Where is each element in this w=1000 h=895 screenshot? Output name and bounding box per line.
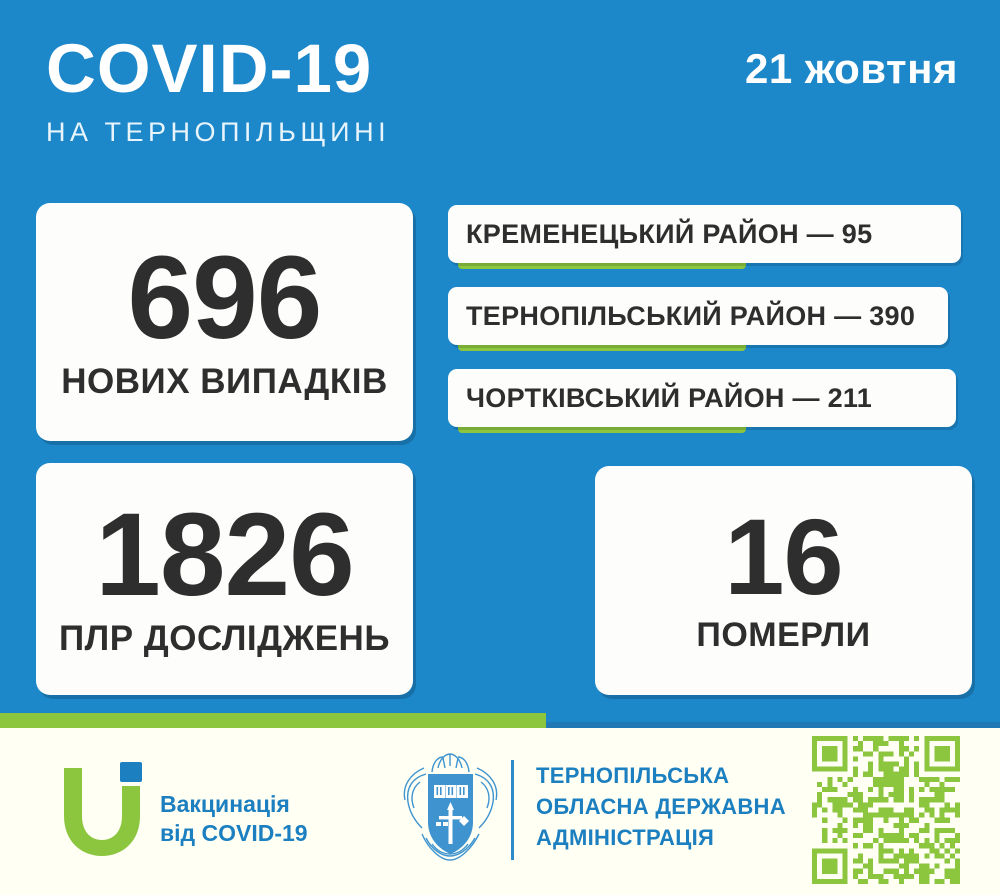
title-block: COVID-19 НА ТЕРНОПІЛЬЩИНІ [46, 34, 390, 146]
admin-vertical-divider [511, 760, 514, 860]
district-card: ТЕРНОПІЛЬСЬКИЙ РАЙОН — 390 [448, 287, 948, 345]
stat-label-pcr-tests: ПЛР ДОСЛІДЖЕНЬ [59, 619, 390, 659]
green-divider-band [0, 713, 546, 728]
district-label: ЧОРТКІВСЬКИЙ РАЙОН — 211 [466, 383, 872, 414]
district-card: ЧОРТКІВСЬКИЙ РАЙОН — 211 [448, 369, 956, 427]
stat-value-new-cases: 696 [128, 242, 322, 354]
covid-infographic-poster: COVID-19 НА ТЕРНОПІЛЬЩИНІ 21 жовтня 696 … [0, 0, 1000, 895]
district-label: КРЕМЕНЕЦЬКИЙ РАЙОН — 95 [466, 219, 872, 250]
vaccination-line-1: Вакцинація [160, 790, 308, 819]
stat-label-new-cases: НОВИХ ВИПАДКІВ [61, 362, 387, 402]
vaccination-text: Вакцинація від COVID-19 [160, 790, 308, 849]
qr-code-icon[interactable] [812, 736, 960, 884]
stat-card-new-cases: 696 НОВИХ ВИПАДКІВ [36, 203, 413, 441]
vaccination-v-logo-icon [58, 760, 154, 860]
poster-header: COVID-19 НА ТЕРНОПІЛЬЩИНІ 21 жовтня [0, 0, 1000, 190]
district-row: КРЕМЕНЕЦЬКИЙ РАЙОН — 95 [448, 205, 968, 265]
district-row: ТЕРНОПІЛЬСЬКИЙ РАЙОН — 390 [448, 287, 968, 347]
stat-label-deaths: ПОМЕРЛИ [696, 616, 870, 655]
district-list: КРЕМЕНЕЦЬКИЙ РАЙОН — 95 ТЕРНОПІЛЬСЬКИЙ Р… [448, 205, 968, 429]
date-label: 21 жовтня [745, 48, 958, 90]
ternopil-oblast-coat-of-arms-icon [398, 752, 503, 870]
page-subtitle: НА ТЕРНОПІЛЬЩИНІ [46, 119, 390, 146]
stat-card-deaths: 16 ПОМЕРЛИ [595, 466, 972, 695]
district-row: ЧОРТКІВСЬКИЙ РАЙОН — 211 [448, 369, 968, 429]
administration-text: ТЕРНОПІЛЬСЬКА ОБЛАСНА ДЕРЖАВНА АДМІНІСТР… [536, 760, 786, 854]
stat-card-pcr-tests: 1826 ПЛР ДОСЛІДЖЕНЬ [36, 463, 413, 695]
administration-line-3: АДМІНІСТРАЦІЯ [536, 822, 786, 853]
stat-value-deaths: 16 [724, 506, 842, 609]
administration-line-2: ОБЛАСНА ДЕРЖАВНА [536, 791, 786, 822]
stat-value-pcr-tests: 1826 [95, 499, 354, 611]
vaccination-line-2: від COVID-19 [160, 819, 308, 848]
district-label: ТЕРНОПІЛЬСЬКИЙ РАЙОН — 390 [466, 301, 915, 332]
district-card: КРЕМЕНЕЦЬКИЙ РАЙОН — 95 [448, 205, 961, 263]
administration-line-1: ТЕРНОПІЛЬСЬКА [536, 760, 786, 791]
page-title: COVID-19 [46, 34, 390, 103]
